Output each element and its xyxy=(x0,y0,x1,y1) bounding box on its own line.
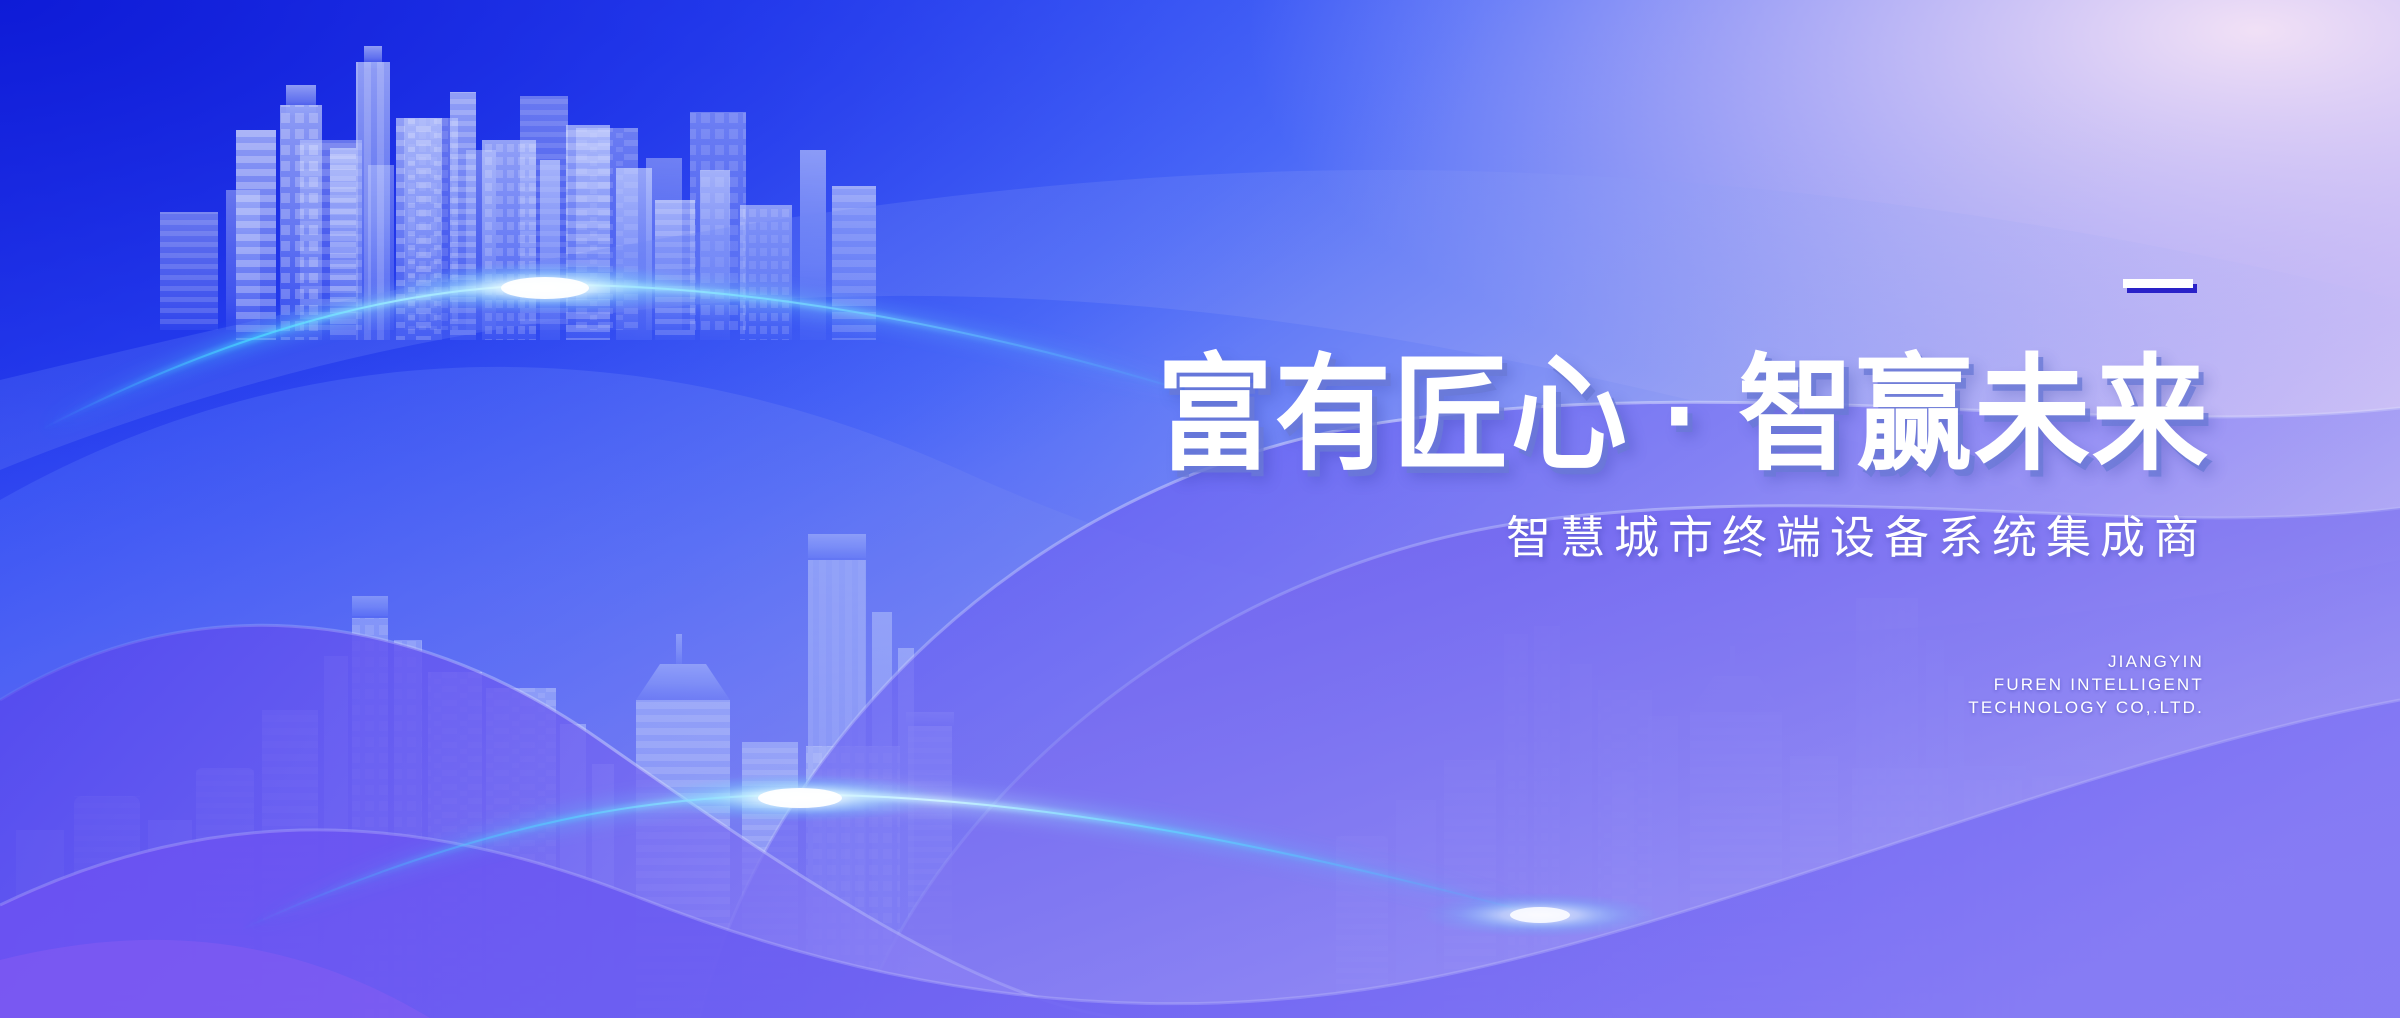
glow-arcs xyxy=(0,0,2400,1018)
marketing-banner: 富有匠心 · 智赢未来 智慧城市终端设备系统集成商 JIANGYIN FUREN… xyxy=(0,0,2400,1018)
upper-glow-arc xyxy=(40,262,1240,430)
lower-glow-arc xyxy=(240,774,1660,937)
